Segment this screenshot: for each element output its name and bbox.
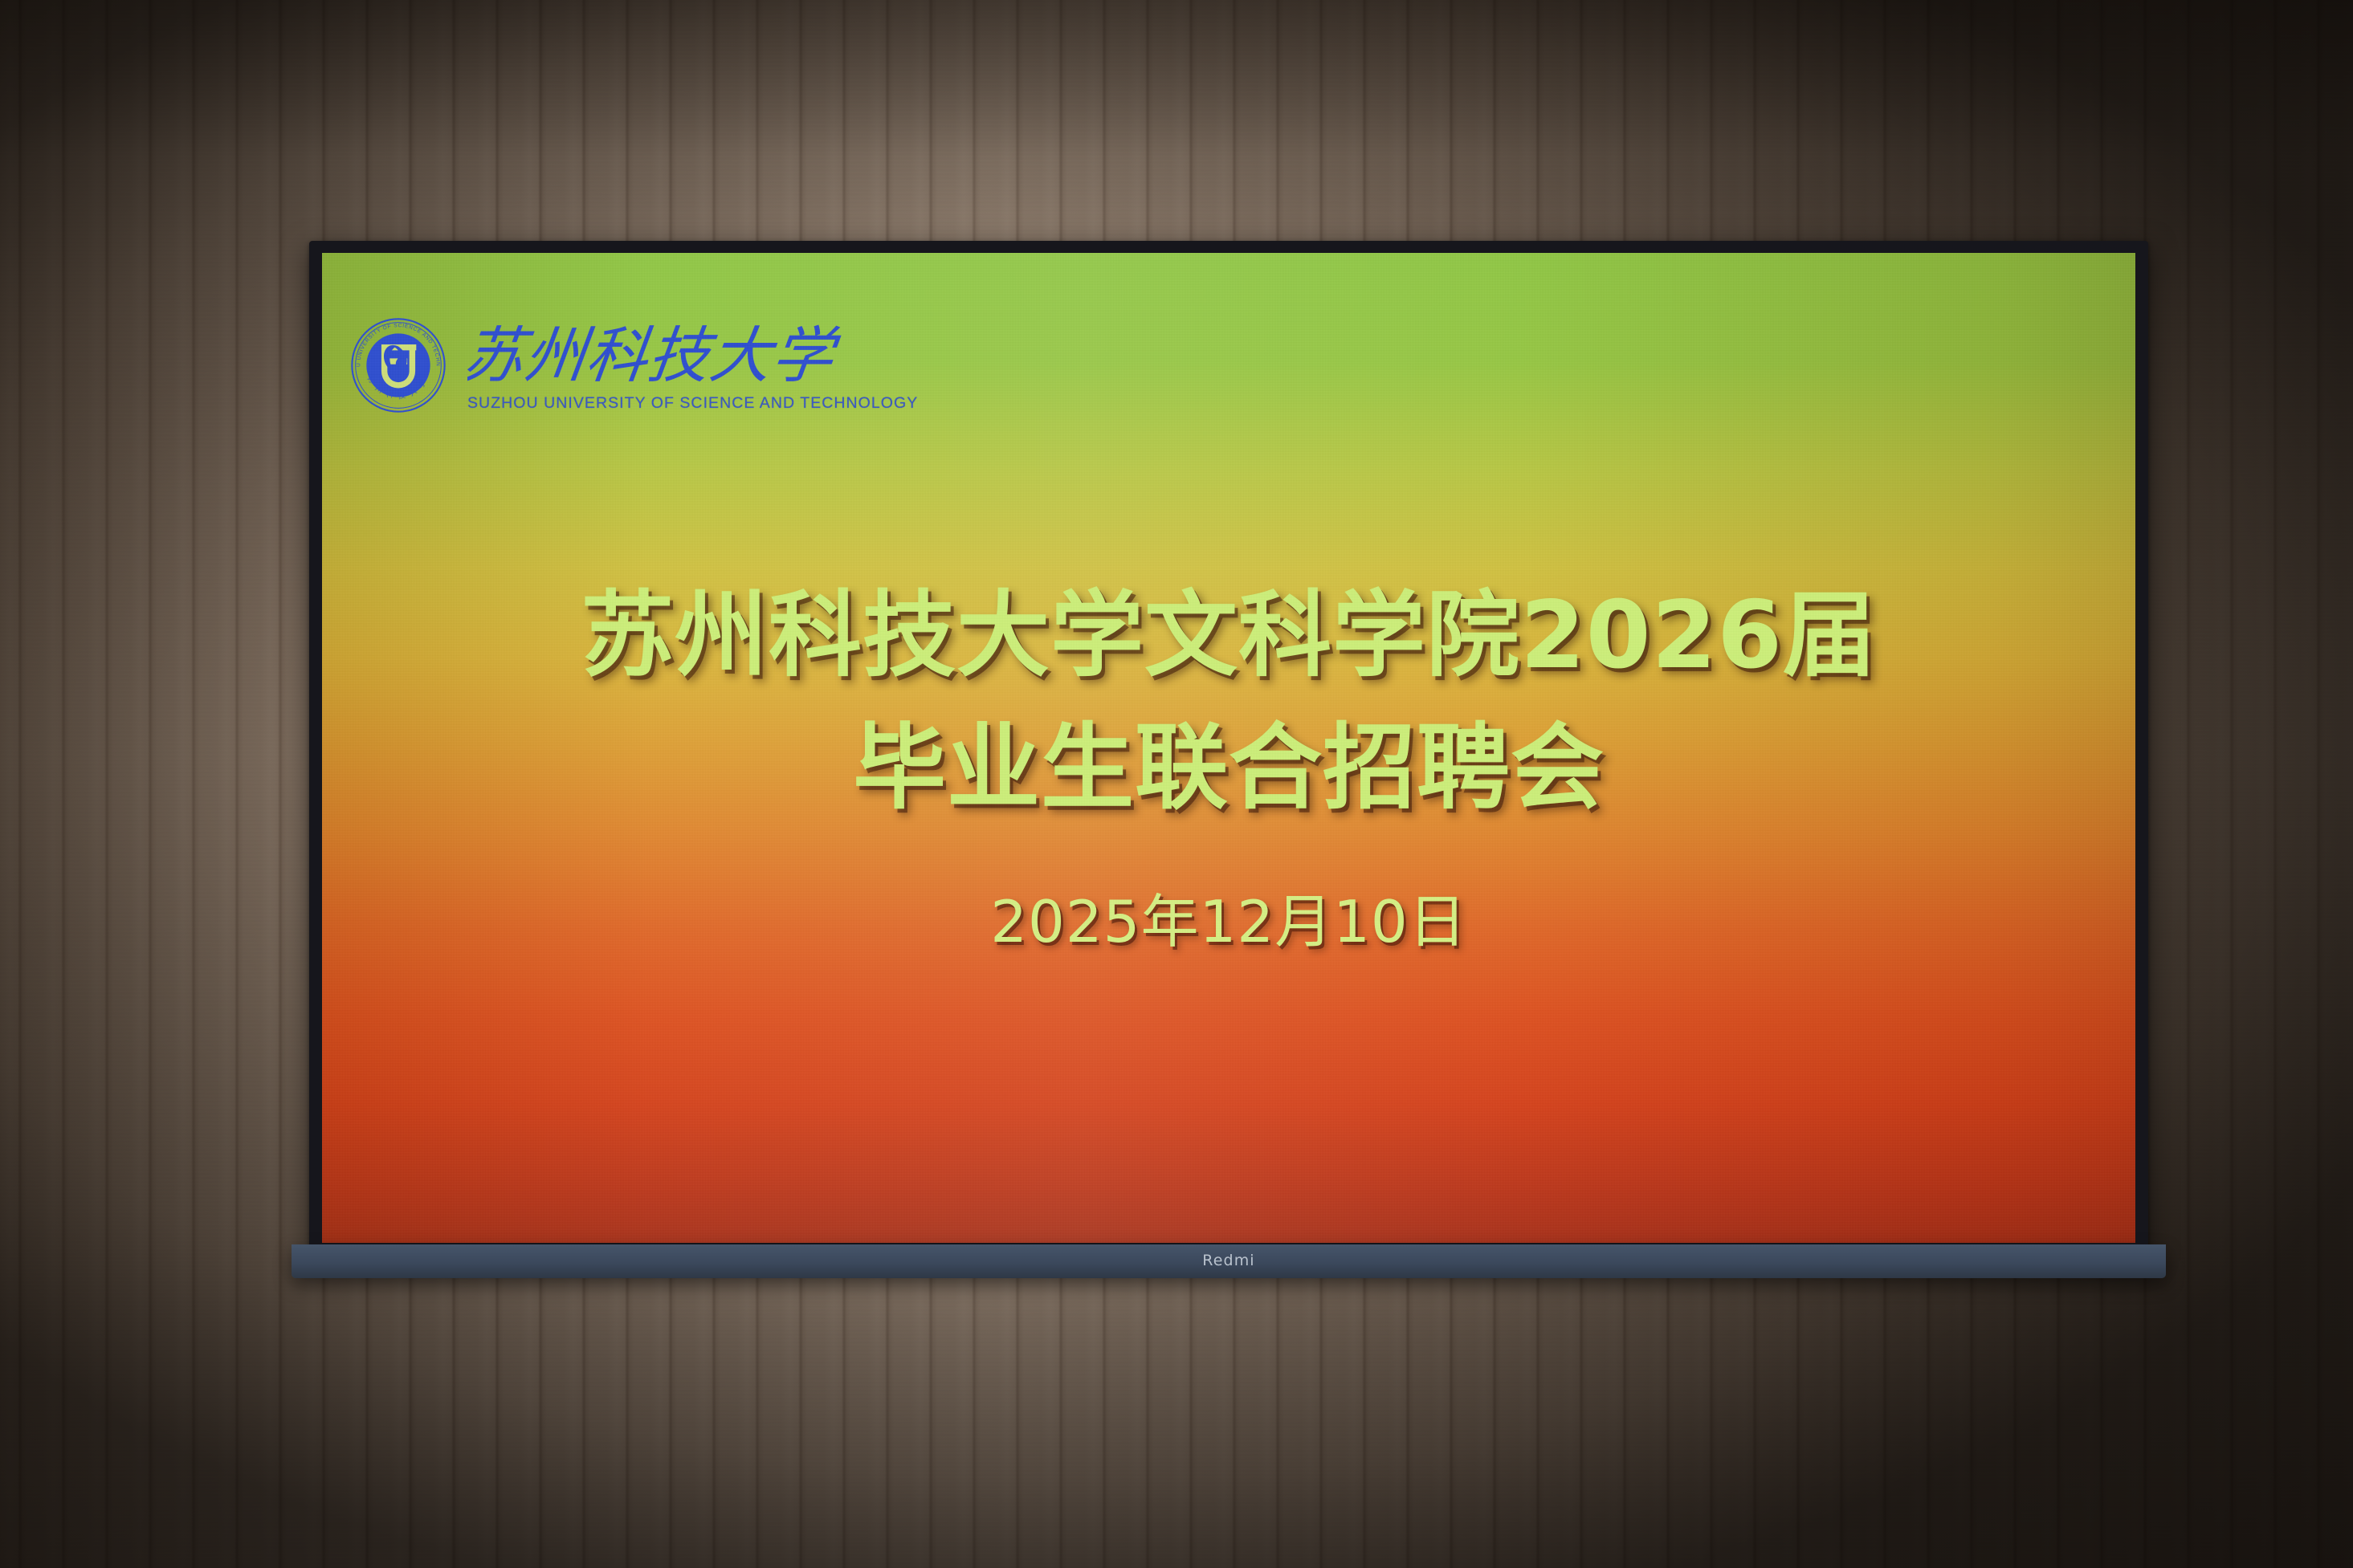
slide-headline: 苏州科技大学文科学院2026届 毕业生联合招聘会 2025年12月10日 [322,570,2135,957]
presentation-slide: SUZHOU UNIVERSITY OF SCIENCE AND TECHNOL… [322,253,2135,1243]
title-line-1: 苏州科技大学文科学院2026届 [322,570,2135,703]
university-wordmark: 苏州科技大学 SUZHOU UNIVERSITY OF SCIENCE AND … [467,319,918,413]
event-date: 2025年12月10日 [322,887,2135,956]
tv-screen[interactable]: SUZHOU UNIVERSITY OF SCIENCE AND TECHNOL… [322,253,2135,1243]
title-line-2: 毕业生联合招聘会 [322,703,2135,835]
university-seal-icon: SUZHOU UNIVERSITY OF SCIENCE AND TECHNOL… [349,316,448,415]
university-name-en: SUZHOU UNIVERSITY OF SCIENCE AND TECHNOL… [467,394,918,413]
tv-brand-label: Redmi [292,1252,2166,1269]
tv-chin-bar: Redmi [292,1244,2166,1278]
university-logo-lockup: SUZHOU UNIVERSITY OF SCIENCE AND TECHNOL… [349,316,918,415]
university-name-cn-text: 苏州科技大学 [467,320,843,391]
university-name-cn-calligraphy: 苏州科技大学 [467,319,845,393]
room-scene: SUZHOU UNIVERSITY OF SCIENCE AND TECHNOL… [0,0,2353,1568]
television: SUZHOU UNIVERSITY OF SCIENCE AND TECHNOL… [309,241,2148,1297]
